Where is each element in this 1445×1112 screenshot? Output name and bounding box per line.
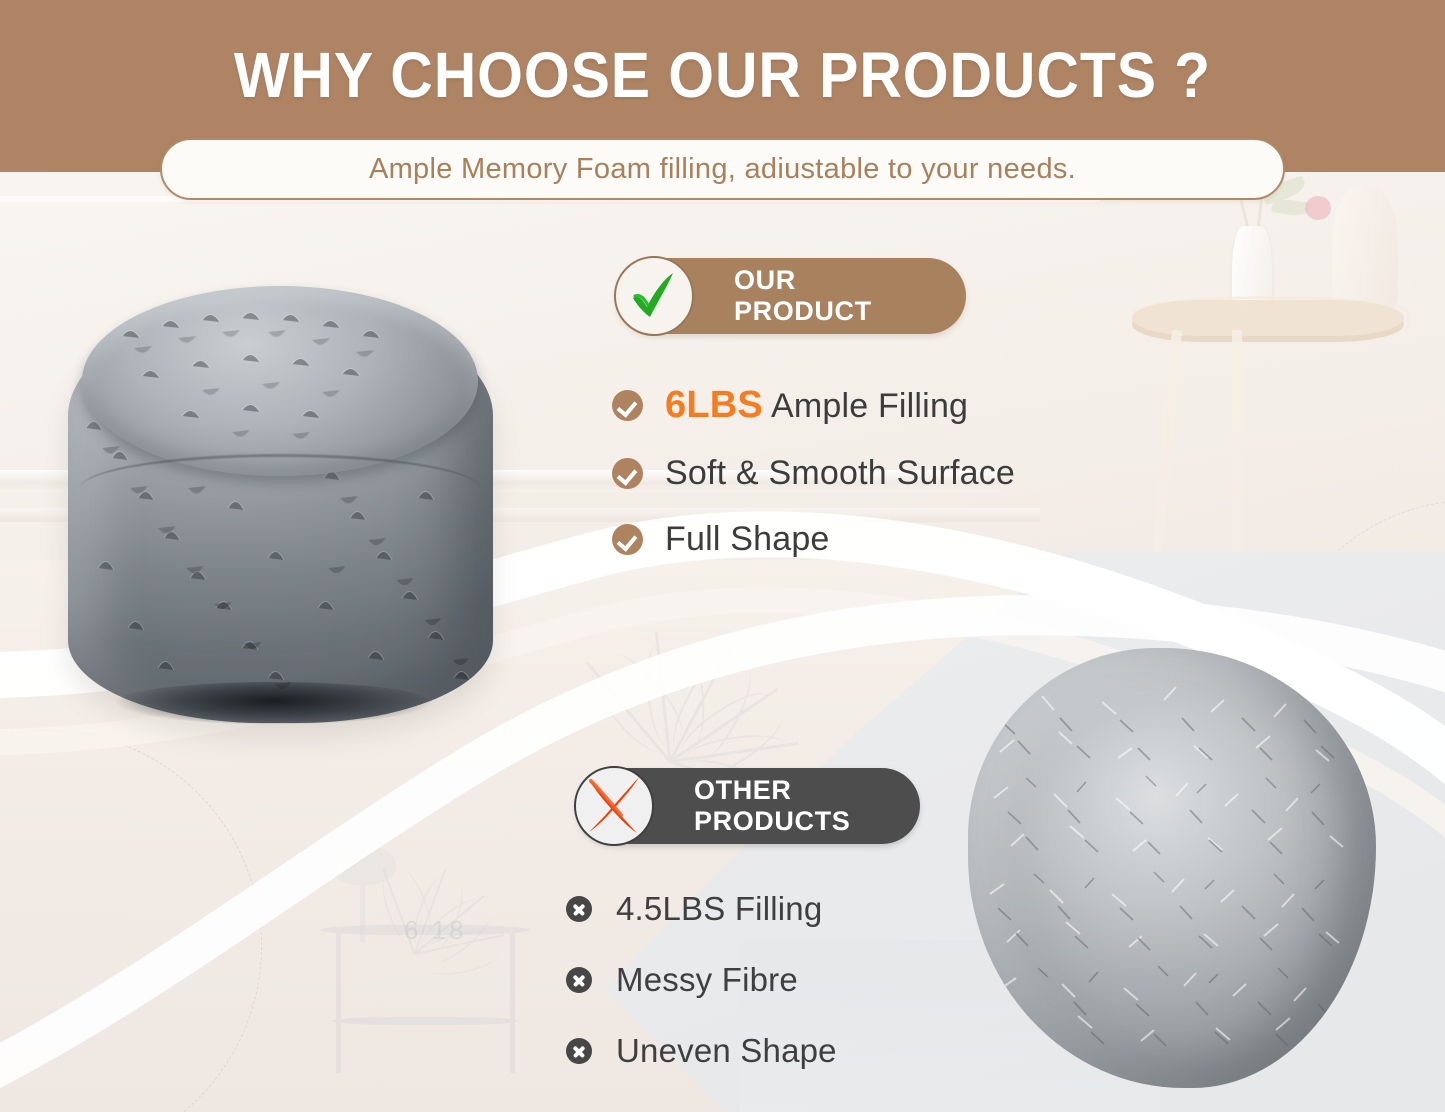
large-white-vase [1332,186,1398,314]
list-item: Soft & Smooth Surface [612,454,1132,493]
feature-label: Ample Filling [771,387,968,425]
ghost-dimension-label: 6 18 [404,915,467,946]
other-products-badge-label: OTHER PRODUCTS [694,775,850,837]
list-item: 4.5LBS Filling [566,890,1046,928]
our-product-photo [68,238,493,723]
ghost-lamp [330,845,396,925]
badge-line-2: PRODUCT [734,296,872,327]
feature-label: Messy Fibre [616,961,798,999]
cross-glyph [577,769,651,843]
feature-label: Full Shape [665,520,830,559]
ghost-side-table [320,925,530,1075]
feature-label: 4.5LBS Filling [616,890,822,928]
badge-line-2: PRODUCTS [694,806,850,837]
pouf-base-shadow [114,682,434,724]
page-title: WHY CHOOSE OUR PRODUCTS ? [58,38,1387,112]
badge-line-1: OUR [734,265,872,296]
feature-label: Soft & Smooth Surface [665,454,1015,493]
list-item: Full Shape [612,520,1132,559]
x-circle-icon [566,1038,592,1064]
pouf-top-lid [82,286,478,476]
list-item: 6LBSAmple Filling [612,384,1132,427]
flower-bud [1305,196,1331,220]
check-circle-icon [612,390,643,421]
other-products-feature-list: 4.5LBS Filling Messy Fibre Uneven Shape [566,890,1046,1103]
our-product-badge[interactable]: OUR PRODUCT [616,258,966,334]
check-glyph [623,265,685,327]
list-item: Uneven Shape [566,1032,1046,1070]
green-check-icon [614,256,694,336]
table-leg [1232,330,1242,555]
check-circle-icon [612,524,643,555]
pouf-seam [80,454,480,523]
red-cross-icon [574,766,654,846]
check-circle-icon [612,458,643,489]
feature-label: Uneven Shape [616,1032,837,1070]
infographic-canvas: 6 18 [0,0,1445,1112]
x-circle-icon [566,896,592,922]
x-circle-icon [566,967,592,993]
list-item: Messy Fibre [566,961,1046,999]
our-product-feature-list: 6LBSAmple Filling Soft & Smooth Surface … [612,384,1132,586]
subtitle-pill: Ample Memory Foam filling, adiustable to… [160,138,1285,200]
badge-line-1: OTHER [694,775,850,806]
feature-text: 6LBSAmple Filling [665,384,968,427]
other-products-badge[interactable]: OTHER PRODUCTS [576,768,920,844]
fur-texture-top [82,286,478,476]
our-product-badge-label: OUR PRODUCT [734,265,872,327]
subtitle-text: Ample Memory Foam filling, adiustable to… [369,153,1076,186]
feature-highlight: 6LBS [665,384,763,426]
